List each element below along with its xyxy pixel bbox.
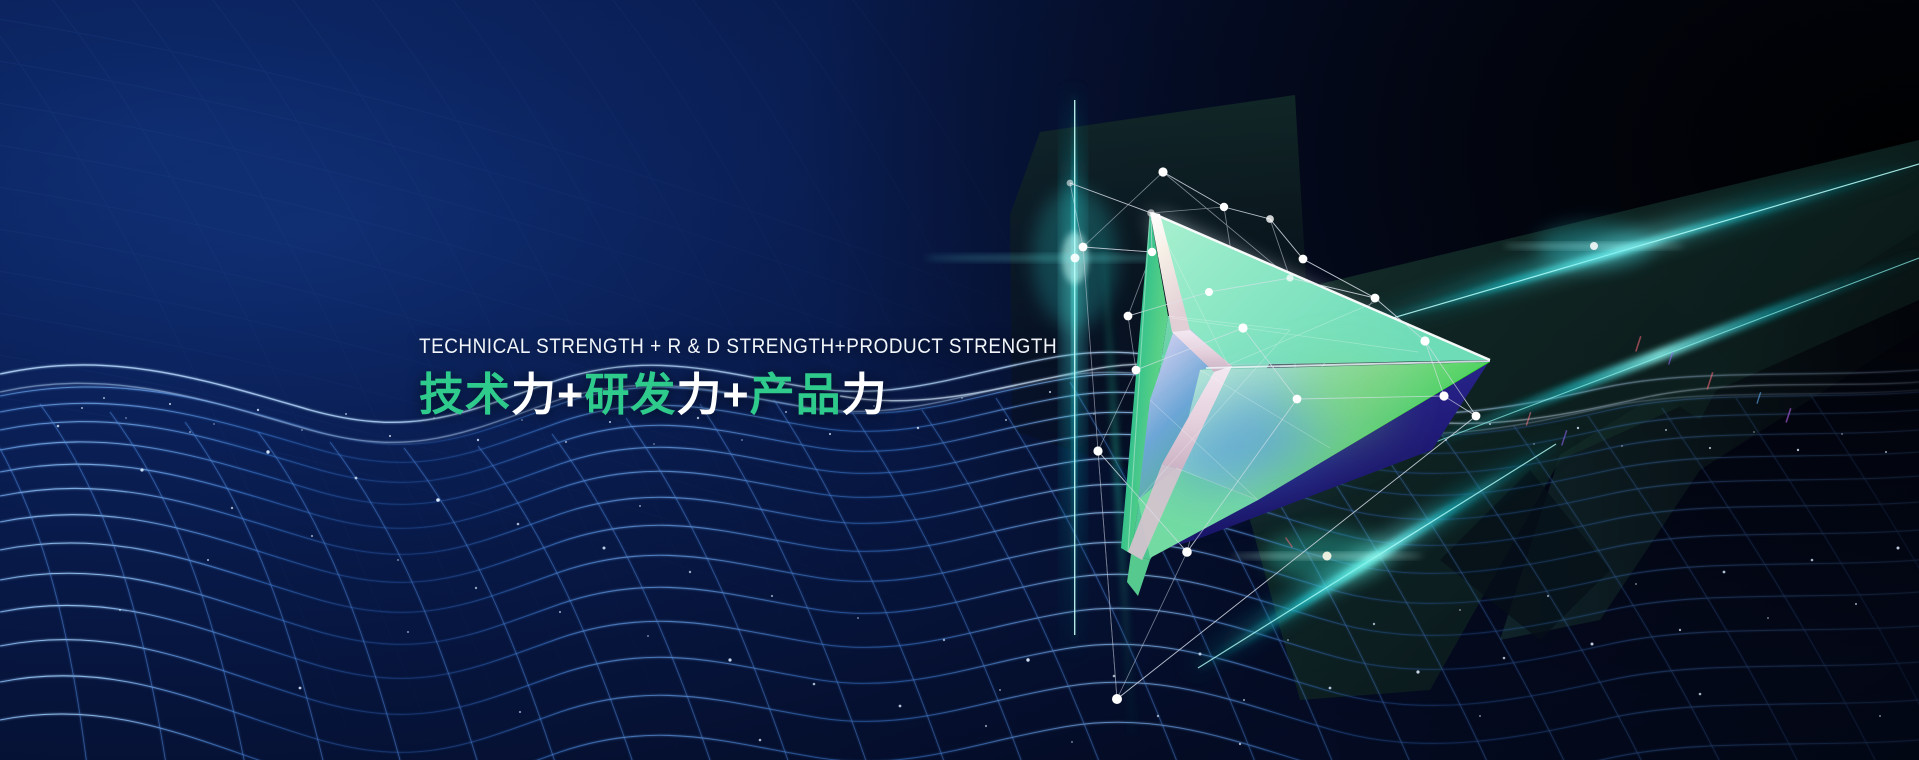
arrow-edge-highlight-fold	[1172, 330, 1232, 372]
network-nodes	[1067, 167, 1481, 704]
title-segment-2: +	[557, 369, 584, 420]
arrow-top-edge-line	[1152, 213, 1490, 360]
hero-banner: TECHNICAL STRENGTH + R & D STRENGTH+PROD…	[0, 0, 1919, 760]
page-title: 技术力+研发力+产品力	[419, 371, 1144, 419]
arrow-edge-highlight-inner	[1162, 366, 1232, 470]
arrow-inner-color-blobs	[1158, 354, 1402, 498]
title-segment-1: 力	[511, 369, 557, 420]
arrow-fin-left-back	[1131, 316, 1290, 560]
chromatic-specks	[1285, 336, 1792, 548]
dark-peak-shape	[1610, 300, 1730, 420]
title-segment-3: 研发	[584, 369, 676, 420]
eyebrow-english-tagline: TECHNICAL STRENGTH + R & D STRENGTH+PROD…	[419, 336, 1057, 358]
arrow-edge-highlight-main	[1150, 212, 1190, 332]
title-segment-7: 力	[842, 369, 888, 420]
arrow-inner-fold-2	[1176, 361, 1490, 500]
arrow-face-lower-wing-2	[1138, 468, 1258, 558]
dark-chevron-slab	[1250, 140, 1919, 700]
mesh-particles	[57, 391, 1900, 745]
title-segment-5: +	[722, 369, 749, 420]
title-segment-4: 力	[676, 369, 722, 420]
arrow-fin-left-lower	[1127, 554, 1150, 596]
arrow-facet-lines	[1138, 213, 1418, 500]
headline-block: TECHNICAL STRENGTH + R & D STRENGTH+PROD…	[419, 336, 1144, 418]
arrow-edge-highlight-bottomfin	[1128, 464, 1182, 560]
dark-chevron-slab-secondary	[1500, 230, 1919, 640]
arrow-face-back-lower	[1128, 470, 1195, 556]
arrow-lower-edge-line	[1206, 361, 1490, 368]
arrow-face-lower-wing	[1176, 362, 1490, 500]
title-segment-0: 技术	[419, 369, 511, 420]
arrow-face-top	[1152, 213, 1490, 365]
dark-lower-facet	[1440, 470, 1610, 640]
arrow-inner-fold	[1138, 318, 1228, 500]
arrow-face-back	[1172, 360, 1490, 540]
title-segment-6: 产品	[750, 369, 842, 420]
